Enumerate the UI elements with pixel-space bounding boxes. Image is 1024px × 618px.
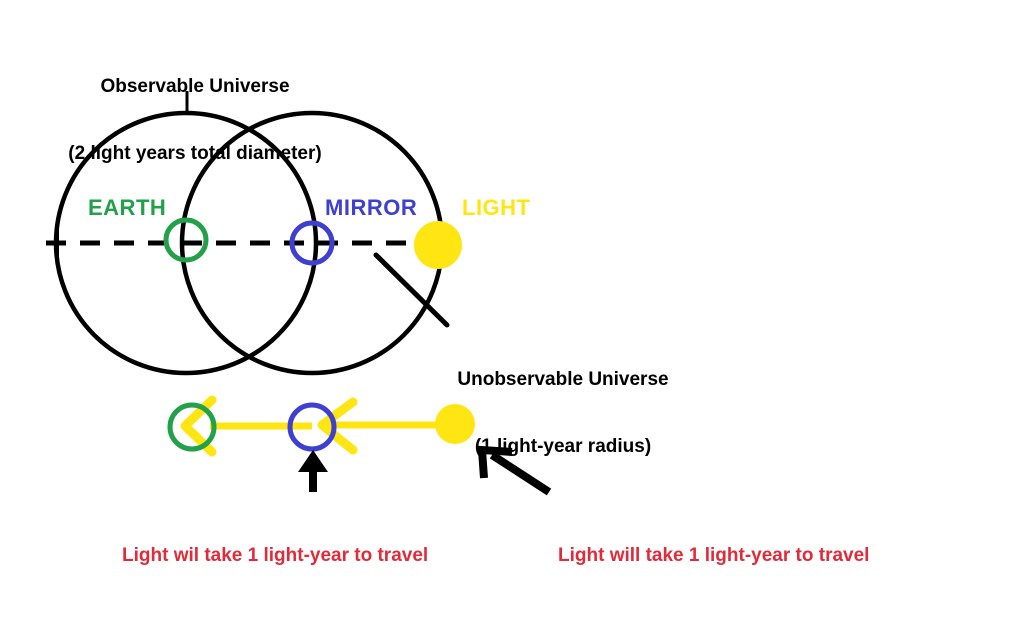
light-source-disc bbox=[414, 221, 462, 269]
note-source-to-mirror: Light will take 1 light-year to travel f… bbox=[558, 489, 998, 618]
mirror-callout-arrow-head bbox=[298, 450, 328, 472]
note-mirror-to-earth: Light wil take 1 light-year to travel fr… bbox=[122, 489, 552, 618]
mirror-label: MIRROR bbox=[325, 195, 417, 221]
light-label: LIGHT bbox=[462, 195, 531, 221]
note-source-to-mirror-line-1: Light will take 1 light-year to travel bbox=[558, 543, 998, 570]
earth-marker-circle bbox=[166, 220, 206, 260]
note-mirror-to-earth-line-1: Light wil take 1 light-year to travel bbox=[122, 543, 552, 570]
unobservable-universe-caption-line-1: Unobservable Universe bbox=[418, 369, 708, 391]
unobservable-universe-caption: Unobservable Universe (1 light-year radi… bbox=[418, 324, 708, 503]
unobservable-universe-caption-line-2: (1 light-year radius) bbox=[418, 436, 708, 458]
earth-label: EARTH bbox=[88, 195, 166, 221]
diagram-canvas: Observable Universe (2 light years total… bbox=[0, 0, 1024, 618]
